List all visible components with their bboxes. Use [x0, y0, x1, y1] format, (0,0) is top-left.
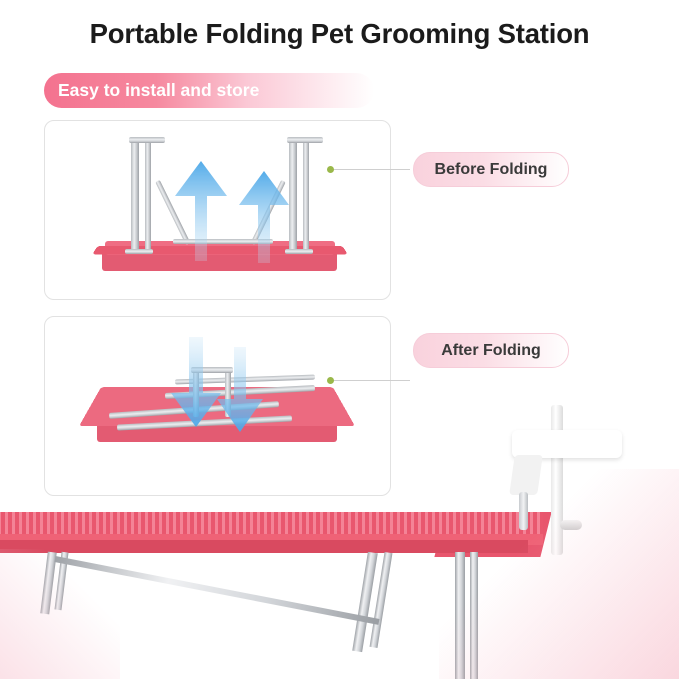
- leg-top-bar-left: [129, 137, 165, 143]
- grooming-arm-post: [551, 405, 563, 555]
- table-leg-brace: [54, 556, 379, 625]
- arrow-down-right-icon: [210, 347, 270, 437]
- before-folding-photo: [44, 120, 391, 300]
- clamp-body: [512, 430, 622, 458]
- table-leg-right-inner: [470, 552, 478, 679]
- status-badge-label: Easy to install and store: [58, 80, 259, 101]
- tabletop-edge: [0, 540, 528, 553]
- tabletop-ridges: [0, 512, 543, 534]
- page-title: Portable Folding Pet Grooming Station: [0, 18, 679, 50]
- after-folding-photo: [44, 316, 391, 496]
- status-badge: Easy to install and store: [44, 73, 374, 108]
- product-infographic: Portable Folding Pet Grooming Station Ea…: [0, 0, 679, 679]
- callout-before-folding-label: Before Folding: [435, 161, 548, 179]
- table-leg-right: [455, 552, 465, 679]
- clamp-knob: [560, 520, 582, 530]
- callout-dot-before: [327, 166, 334, 173]
- callout-after-folding-label: After Folding: [441, 342, 541, 360]
- leg-top-bar-right: [287, 137, 323, 143]
- callout-before-folding: Before Folding: [413, 152, 569, 187]
- leg-left-inner: [145, 139, 151, 251]
- leg-right-inner: [303, 139, 309, 251]
- clamp-neck: [509, 455, 543, 495]
- callout-line-after: [330, 380, 410, 381]
- callout-line-before: [330, 169, 410, 170]
- callout-dot-after: [327, 377, 334, 384]
- arrow-up-right-icon: [230, 163, 300, 263]
- arrow-up-left-icon: [165, 151, 235, 261]
- foot-left: [125, 249, 153, 254]
- callout-after-folding: After Folding: [413, 333, 569, 368]
- leg-left-outer: [131, 139, 139, 251]
- clamp-screw: [519, 492, 528, 530]
